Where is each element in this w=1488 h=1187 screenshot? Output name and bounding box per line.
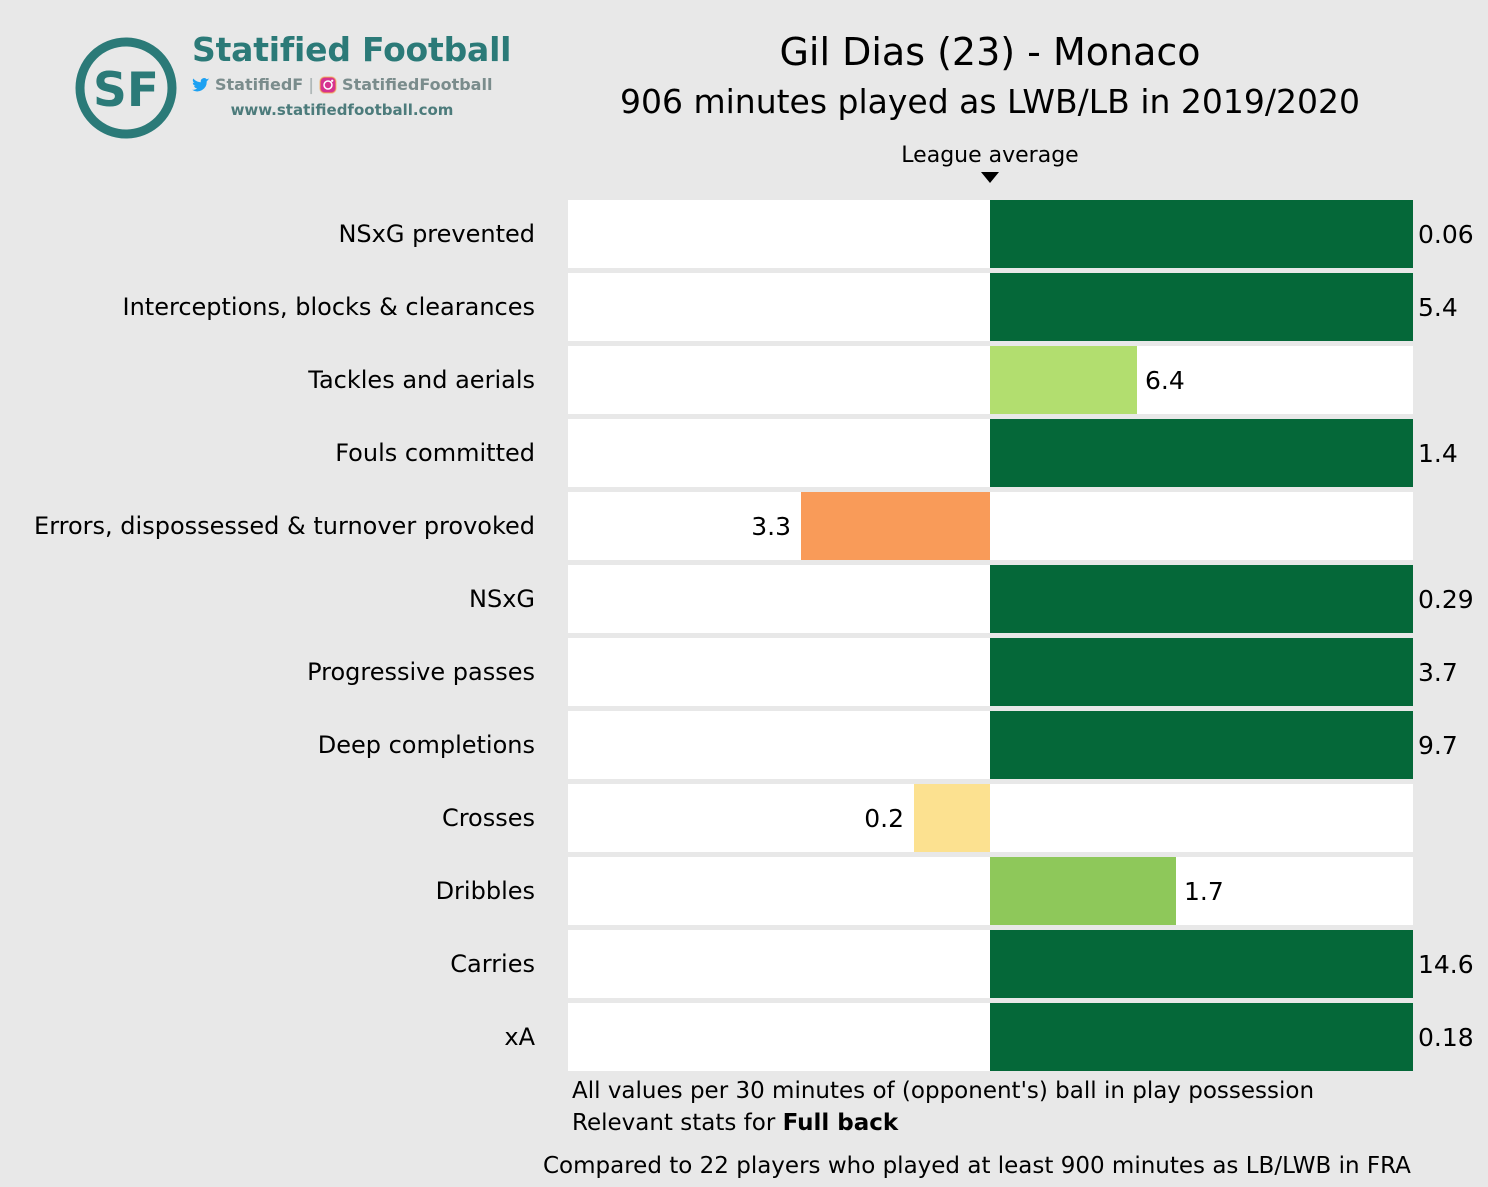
stat-row: Errors, dispossessed & turnover provoked… (0, 492, 1488, 560)
title-block: Gil Dias (23) - Monaco 906 minutes playe… (540, 26, 1440, 126)
stat-bar (990, 711, 1413, 779)
stat-row-track (568, 273, 1413, 341)
stat-value-label: 6.4 (1145, 346, 1185, 414)
stat-bar (801, 492, 990, 560)
stat-row: Interceptions, blocks & clearances5.4 (0, 273, 1488, 341)
stat-row-label: Tackles and aerials (308, 346, 535, 414)
stat-value-label: 3.3 (0, 492, 791, 560)
stat-value-label: 0.18 (1418, 1003, 1474, 1071)
stat-bar (990, 638, 1413, 706)
page-subtitle: 906 minutes played as LWB/LB in 2019/202… (540, 78, 1440, 126)
league-average-label: League average (901, 142, 1078, 170)
stat-row: Crosses0.2 (0, 784, 1488, 852)
stat-row-label: Carries (450, 930, 535, 998)
stat-row-track (568, 346, 1413, 414)
stat-row: Deep completions9.7 (0, 711, 1488, 779)
stat-bar (990, 346, 1137, 414)
stat-bar-chart: NSxG prevented0.06Interceptions, blocks … (0, 195, 1488, 1070)
stat-row-label: NSxG prevented (338, 200, 535, 268)
stat-value-label: 0.06 (1418, 200, 1474, 268)
stat-row-track (568, 200, 1413, 268)
footer-role-name: Full back (783, 1110, 899, 1136)
down-triangle-icon (981, 172, 999, 183)
chart-header: SF Statified Football StatifiedF | (0, 0, 1488, 195)
stat-row-track (568, 930, 1413, 998)
stat-row-label: Deep completions (318, 711, 535, 779)
brand-name: Statified Football (192, 28, 542, 72)
stat-row-label: Fouls committed (335, 419, 535, 487)
twitter-bird-icon (192, 76, 210, 94)
instagram-handle: StatifiedFootball (342, 72, 492, 98)
footer-role-prefix: Relevant stats for (572, 1110, 783, 1136)
stat-row: Progressive passes3.7 (0, 638, 1488, 706)
stat-row: Dribbles1.7 (0, 857, 1488, 925)
brand-monogram: SF (93, 63, 159, 118)
instagram-camera-icon (319, 76, 337, 94)
sf-circle-logo: SF (72, 34, 180, 142)
stat-row: Fouls committed1.4 (0, 419, 1488, 487)
stat-bar (990, 1003, 1413, 1071)
stat-bar (990, 565, 1413, 633)
stat-value-label: 14.6 (1418, 930, 1474, 998)
stat-row-label: Dribbles (436, 857, 535, 925)
stat-bar (990, 930, 1413, 998)
stat-row-track (568, 419, 1413, 487)
stat-row-label: Progressive passes (307, 638, 535, 706)
stat-bar (990, 419, 1413, 487)
footer-values-note: All values per 30 minutes of (opponent's… (572, 1075, 1314, 1107)
footer-role-note: Relevant stats for Full back (572, 1107, 898, 1139)
brand-social-line: StatifiedF | StatifiedFootball (192, 72, 542, 98)
stat-value-label: 3.7 (1418, 638, 1458, 706)
stat-row: Carries14.6 (0, 930, 1488, 998)
stat-value-label: 1.7 (1184, 857, 1224, 925)
stat-row: xA0.18 (0, 1003, 1488, 1071)
chart-footer: All values per 30 minutes of (opponent's… (0, 1070, 1488, 1187)
stat-value-label: 5.4 (1418, 273, 1458, 341)
stat-row-track (568, 711, 1413, 779)
stat-row-track (568, 1003, 1413, 1071)
stat-bar (990, 273, 1413, 341)
stat-value-label: 9.7 (1418, 711, 1458, 779)
stat-row-label: NSxG (469, 565, 535, 633)
stat-bar (914, 784, 990, 852)
stat-row-label: xA (504, 1003, 535, 1071)
stat-value-label: 1.4 (1418, 419, 1458, 487)
twitter-handle: StatifiedF (215, 72, 303, 98)
stat-row-track (568, 638, 1413, 706)
page-title: Gil Dias (23) - Monaco (540, 26, 1440, 78)
brand-block: SF Statified Football StatifiedF | (72, 28, 542, 148)
stat-row-track (568, 565, 1413, 633)
stat-row: NSxG prevented0.06 (0, 200, 1488, 268)
stat-bar (990, 200, 1413, 268)
stat-row-label: Interceptions, blocks & clearances (123, 273, 535, 341)
social-separator: | (308, 72, 314, 98)
stat-value-label: 0.29 (1418, 565, 1474, 633)
stat-bar (990, 857, 1176, 925)
brand-website: www.statifiedfootball.com (192, 98, 492, 122)
stat-value-label: 0.2 (0, 784, 904, 852)
brand-text-block: Statified Football StatifiedF | (192, 28, 542, 122)
stat-row-track (568, 857, 1413, 925)
stat-row: NSxG0.29 (0, 565, 1488, 633)
stat-row: Tackles and aerials6.4 (0, 346, 1488, 414)
footer-comparison-note: Compared to 22 players who played at lea… (543, 1150, 1411, 1182)
